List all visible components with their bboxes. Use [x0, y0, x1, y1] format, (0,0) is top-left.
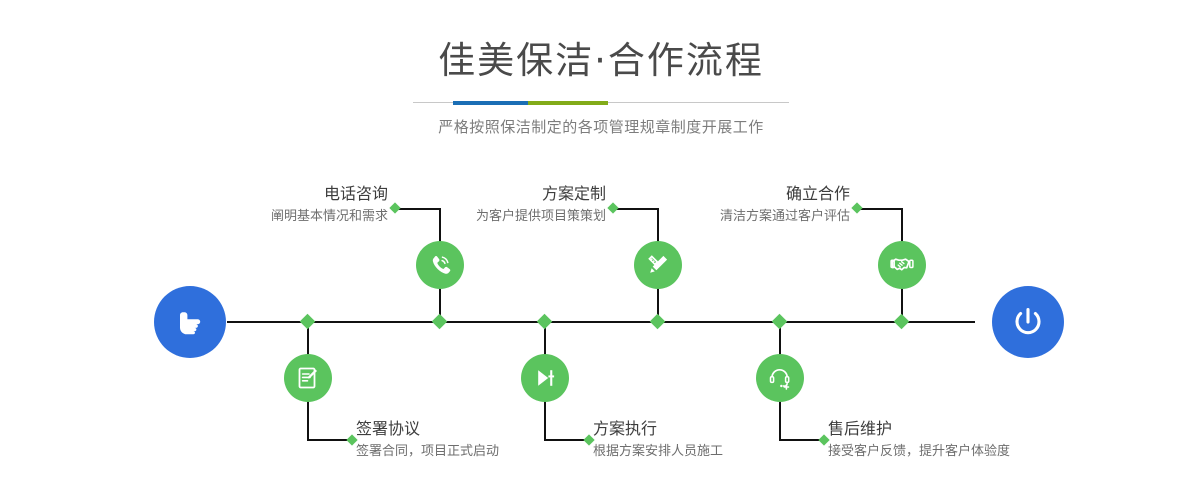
divider-segment-green: [528, 101, 608, 105]
timeline-axis: [227, 321, 975, 323]
step-icon-3: [634, 241, 682, 289]
axis-node-5: [894, 314, 910, 330]
step-desc-1: 阐明基本情况和需求: [140, 207, 388, 227]
cooperation-process-infographic: 佳美保洁·合作流程 严格按照保洁制定的各项管理规章制度开展工作: [0, 0, 1202, 502]
step-title-6: 售后维护: [828, 418, 1128, 440]
step-label-1: 电话咨询 阐明基本情况和需求: [140, 183, 388, 227]
phone-call-icon: [427, 252, 453, 278]
divider-segment-blue: [453, 101, 528, 105]
step-icon-5: [878, 241, 926, 289]
step-desc-5: 清洁方案通过客户评估: [602, 207, 850, 227]
step-label-5: 确立合作 清洁方案通过客户评估: [602, 183, 850, 227]
hand-pointing-right-icon: [171, 303, 209, 341]
axis-node-6: [772, 314, 788, 330]
page-subtitle: 严格按照保洁制定的各项管理规章制度开展工作: [0, 105, 1202, 138]
connector-arm-2: [307, 439, 351, 441]
play-execute-icon: [532, 365, 558, 391]
step-desc-3: 为客户提供项目策策划: [358, 207, 606, 227]
document-sign-icon: [295, 365, 321, 391]
axis-node-2: [300, 314, 316, 330]
axis-node-3: [650, 314, 666, 330]
step-label-3: 方案定制 为客户提供项目策策划: [358, 183, 606, 227]
step-label-6: 售后维护 接受客户反馈，提升客户体验度: [828, 418, 1128, 462]
label-anchor-5: [851, 202, 862, 213]
page-title: 佳美保洁·合作流程: [0, 0, 1202, 84]
connector-arm-5: [858, 208, 902, 210]
pencil-ruler-icon: [645, 252, 671, 278]
support-agent-icon: [767, 365, 793, 391]
step-title-1: 电话咨询: [140, 183, 388, 205]
step-desc-6: 接受客户反馈，提升客户体验度: [828, 442, 1128, 462]
step-title-3: 方案定制: [358, 183, 606, 205]
header: 佳美保洁·合作流程 严格按照保洁制定的各项管理规章制度开展工作: [0, 0, 1202, 138]
axis-node-1: [432, 314, 448, 330]
axis-node-4: [537, 314, 553, 330]
step-icon-4: [521, 354, 569, 402]
flow-start-marker: [154, 286, 226, 358]
handshake-icon: [889, 252, 915, 278]
step-icon-2: [284, 354, 332, 402]
flow-end-marker: [992, 286, 1064, 358]
step-icon-1: [416, 241, 464, 289]
process-flow: 电话咨询 阐明基本情况和需求 签署协议 签署合同，项目正式启动: [0, 155, 1202, 502]
title-divider: [413, 101, 789, 105]
step-title-5: 确立合作: [602, 183, 850, 205]
step-icon-6: [756, 354, 804, 402]
power-icon: [1008, 302, 1048, 342]
